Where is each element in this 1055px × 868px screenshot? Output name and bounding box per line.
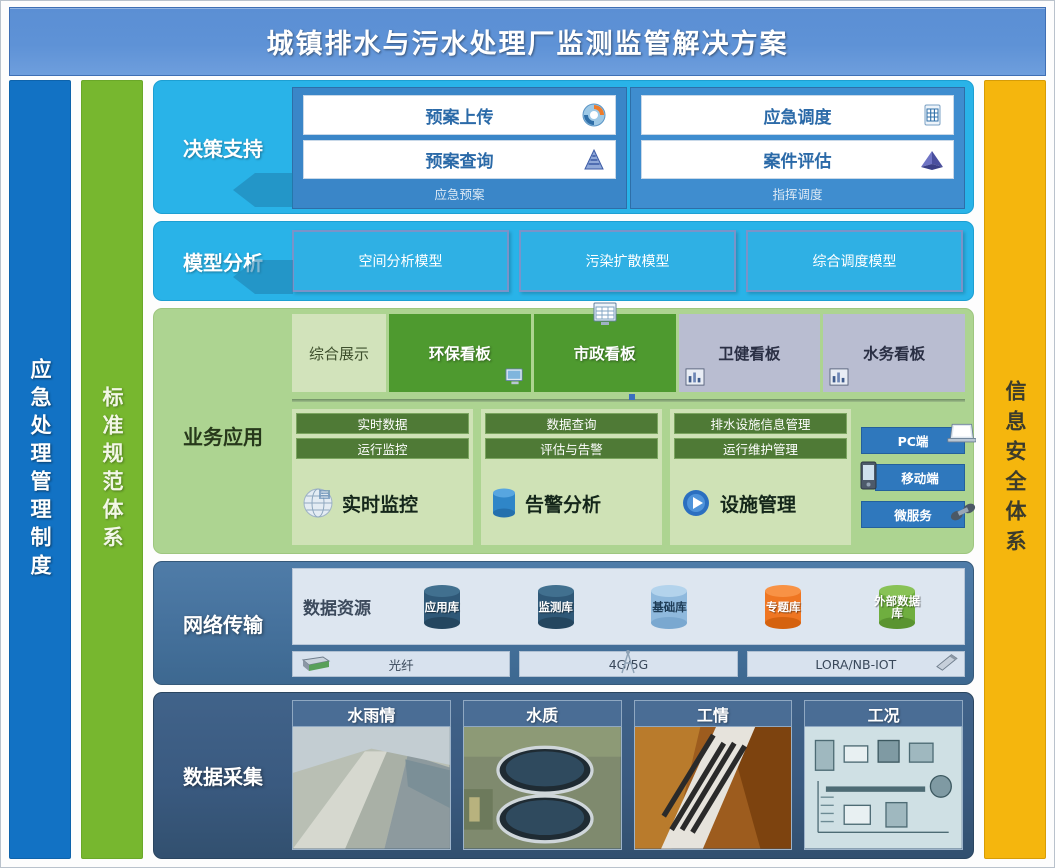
feature-realtime-monitor[interactable]: 实时监控 (296, 463, 469, 543)
sensor-module-icon (930, 652, 962, 672)
divider-marker (629, 394, 635, 400)
database-external-label: 外部数据库 (871, 595, 923, 619)
database-list: 应用库 监测库 (385, 582, 954, 632)
board-municipal[interactable]: 市政看板 (534, 314, 676, 392)
tag-data-query[interactable]: 数据查询 (485, 413, 658, 434)
handset-icon (948, 500, 978, 524)
left-pillar-emergency-management: 应急处理管理制度 (9, 80, 71, 859)
endpoint-microservice[interactable]: 微服务 (861, 501, 965, 528)
model-box-pollution-diffusion[interactable]: 污染扩散模型 (519, 230, 736, 292)
pyramid-3d-icon (919, 147, 945, 173)
endpoint-microservice-label: 微服务 (894, 505, 932, 524)
decision-group-caption-emergency: 应急预案 (303, 184, 616, 205)
transport-fiber[interactable]: 光纤 (292, 651, 510, 677)
tag-realtime-data[interactable]: 实时数据 (296, 413, 469, 434)
grid-table-icon (919, 102, 945, 128)
dashboard-boards: 综合展示 环保看板 市政看板 (292, 314, 965, 392)
model-row-label: 模型分析 (183, 247, 263, 276)
database-monitoring[interactable]: 监测库 (530, 582, 582, 632)
database-foundation[interactable]: 基础库 (643, 582, 695, 632)
board-water-affairs-label: 水务看板 (863, 342, 925, 364)
database-application-label: 应用库 (425, 601, 460, 613)
play-icon (678, 485, 714, 521)
treatment-tanks-photo (463, 727, 622, 850)
button-emergency-dispatch-label: 应急调度 (764, 103, 832, 128)
laptop-icon (946, 422, 976, 446)
chevron-left-icon (233, 173, 293, 207)
business-row-label: 业务应用 (183, 421, 263, 450)
transport-lora-nbiot[interactable]: LORA/NB-IOT (747, 651, 965, 677)
database-monitoring-label: 监测库 (538, 601, 573, 613)
collect-row-label-wrap: 数据采集 (154, 693, 292, 858)
fiber-switch-icon (299, 654, 331, 674)
collect-cell-operating-condition[interactable]: 工况 (804, 700, 963, 850)
mobile-phone-icon (858, 461, 880, 491)
network-row-label: 网络传输 (183, 609, 263, 638)
endpoint-mobile-label: 移动端 (901, 468, 939, 487)
layers-stack: 决策支持 预案上传 (153, 80, 974, 859)
boards-divider (292, 397, 965, 403)
window-icon (592, 302, 618, 326)
model-box-integrated-dispatch[interactable]: 综合调度模型 (746, 230, 963, 292)
database-foundation-label: 基础库 (652, 601, 687, 613)
boards-lead-label: 综合展示 (292, 314, 386, 392)
database-external[interactable]: 外部数据库 (871, 582, 923, 632)
business-column-facility: 排水设施信息管理 运行维护管理 设施管理 (670, 409, 851, 545)
model-boxes: 空间分析模型 污染扩散模型 综合调度模型 (292, 222, 973, 300)
business-main: 综合展示 环保看板 市政看板 (292, 309, 973, 553)
database-thematic-label: 专题库 (766, 601, 801, 613)
collect-cell-rainfall-label: 水雨情 (292, 700, 451, 727)
layer-model-analysis: 模型分析 空间分析模型 污染扩散模型 综合调度模型 (153, 221, 974, 301)
board-environment-label: 环保看板 (429, 342, 491, 364)
model-box-spatial[interactable]: 空间分析模型 (292, 230, 509, 292)
board-municipal-label: 市政看板 (574, 342, 636, 364)
feature-facility-management[interactable]: 设施管理 (674, 463, 847, 543)
board-water-affairs[interactable]: 水务看板 (823, 314, 965, 392)
client-endpoints: PC端 移动端 (861, 409, 965, 545)
button-plan-upload[interactable]: 预案上传 (303, 95, 616, 135)
diagram-page: 城镇排水与污水处理厂监测监管解决方案 应急处理管理制度 标准规范体系 决策支持 … (0, 0, 1055, 868)
database-thematic[interactable]: 专题库 (757, 582, 809, 632)
globe-icon (300, 485, 336, 521)
button-plan-query[interactable]: 预案查询 (303, 140, 616, 180)
layer-data-collection: 数据采集 水雨情 (153, 692, 974, 859)
business-row-label-wrap: 业务应用 (154, 309, 292, 553)
feature-alarm-analysis[interactable]: 告警分析 (485, 463, 658, 543)
pipeline-photo (634, 727, 793, 850)
database-icon (489, 486, 519, 520)
canal-photo (292, 727, 451, 850)
pyramid-icon (581, 147, 607, 173)
diagram-body: 应急处理管理制度 标准规范体系 决策支持 预案上传 (1, 80, 1054, 867)
layer-business-application: 业务应用 综合展示 环保看板 (153, 308, 974, 554)
decision-group-command-dispatch: 应急调度 案件评估 (630, 87, 965, 209)
decision-row-label-wrap: 决策支持 (154, 81, 292, 213)
right-pillar-information-security: 信息安全体系 (984, 80, 1046, 859)
board-health-label: 卫健看板 (718, 342, 780, 364)
board-environment[interactable]: 环保看板 (389, 314, 531, 392)
button-case-assessment-label: 案件评估 (764, 147, 832, 172)
business-column-realtime: 实时数据 运行监控 (292, 409, 473, 545)
network-main: 数据资源 应用库 (292, 562, 973, 684)
button-case-assessment[interactable]: 案件评估 (641, 140, 954, 180)
button-plan-upload-label: 预案上传 (426, 103, 494, 128)
tag-drainage-facility-info[interactable]: 排水设施信息管理 (674, 413, 847, 434)
decision-group-caption-command: 指挥调度 (641, 184, 954, 205)
collect-cell-water-quality[interactable]: 水质 (463, 700, 622, 850)
feature-realtime-monitor-label: 实时监控 (342, 490, 418, 517)
collect-cell-water-quality-label: 水质 (463, 700, 622, 727)
layer-decision-support: 决策支持 预案上传 (153, 80, 974, 214)
scada-diagram (804, 727, 963, 850)
antenna-tower-icon (617, 649, 639, 675)
collect-cell-project-status-label: 工情 (634, 700, 793, 727)
business-columns: 实时数据 运行监控 (292, 409, 851, 545)
decision-row-label: 决策支持 (183, 133, 263, 162)
collect-cells: 水雨情 水质 (292, 693, 973, 858)
business-column-query: 数据查询 评估与告警 告警分析 (481, 409, 662, 545)
cycle-icon (581, 102, 607, 128)
business-lower: 实时数据 运行监控 (292, 409, 965, 545)
chart-icon (685, 368, 705, 386)
model-row-label-wrap: 模型分析 (154, 222, 292, 300)
button-plan-query-label: 预案查询 (426, 147, 494, 172)
decision-groups: 预案上传 预案查询 (292, 81, 973, 213)
network-row-label-wrap: 网络传输 (154, 562, 292, 684)
endpoint-pc[interactable]: PC端 (861, 427, 965, 454)
endpoint-pc-label: PC端 (898, 431, 929, 450)
tag-operation-maintenance[interactable]: 运行维护管理 (674, 438, 847, 459)
database-application[interactable]: 应用库 (416, 582, 468, 632)
board-health[interactable]: 卫健看板 (679, 314, 821, 392)
collect-cell-project-status[interactable]: 工情 (634, 700, 793, 850)
collect-cell-rainfall[interactable]: 水雨情 (292, 700, 451, 850)
page-title-bar: 城镇排水与污水处理厂监测监管解决方案 (9, 7, 1046, 76)
left-pillar-standards-system: 标准规范体系 (81, 80, 143, 859)
layer-network-transmission: 网络传输 数据资源 应用库 (153, 561, 974, 685)
tag-operation-monitoring[interactable]: 运行监控 (296, 438, 469, 459)
feature-alarm-analysis-label: 告警分析 (525, 490, 601, 517)
tag-assessment-alarm[interactable]: 评估与告警 (485, 438, 658, 459)
page-title: 城镇排水与污水处理厂监测监管解决方案 (267, 22, 789, 61)
button-emergency-dispatch[interactable]: 应急调度 (641, 95, 954, 135)
data-resource-label: 数据资源 (303, 594, 371, 619)
data-resource-bar: 数据资源 应用库 (292, 568, 965, 645)
transport-fiber-label: 光纤 (389, 655, 414, 674)
endpoint-mobile[interactable]: 移动端 (875, 464, 965, 491)
collect-cell-operating-condition-label: 工况 (804, 700, 963, 727)
transport-list: 光纤 4G/5G (292, 651, 965, 677)
transport-lora-nbiot-label: LORA/NB-IOT (815, 657, 896, 672)
collect-row-label: 数据采集 (183, 761, 263, 790)
chart-icon (829, 368, 849, 386)
feature-facility-management-label: 设施管理 (720, 490, 796, 517)
monitor-icon (505, 368, 525, 386)
transport-4g5g[interactable]: 4G/5G (519, 651, 737, 677)
decision-group-emergency-plan: 预案上传 预案查询 (292, 87, 627, 209)
